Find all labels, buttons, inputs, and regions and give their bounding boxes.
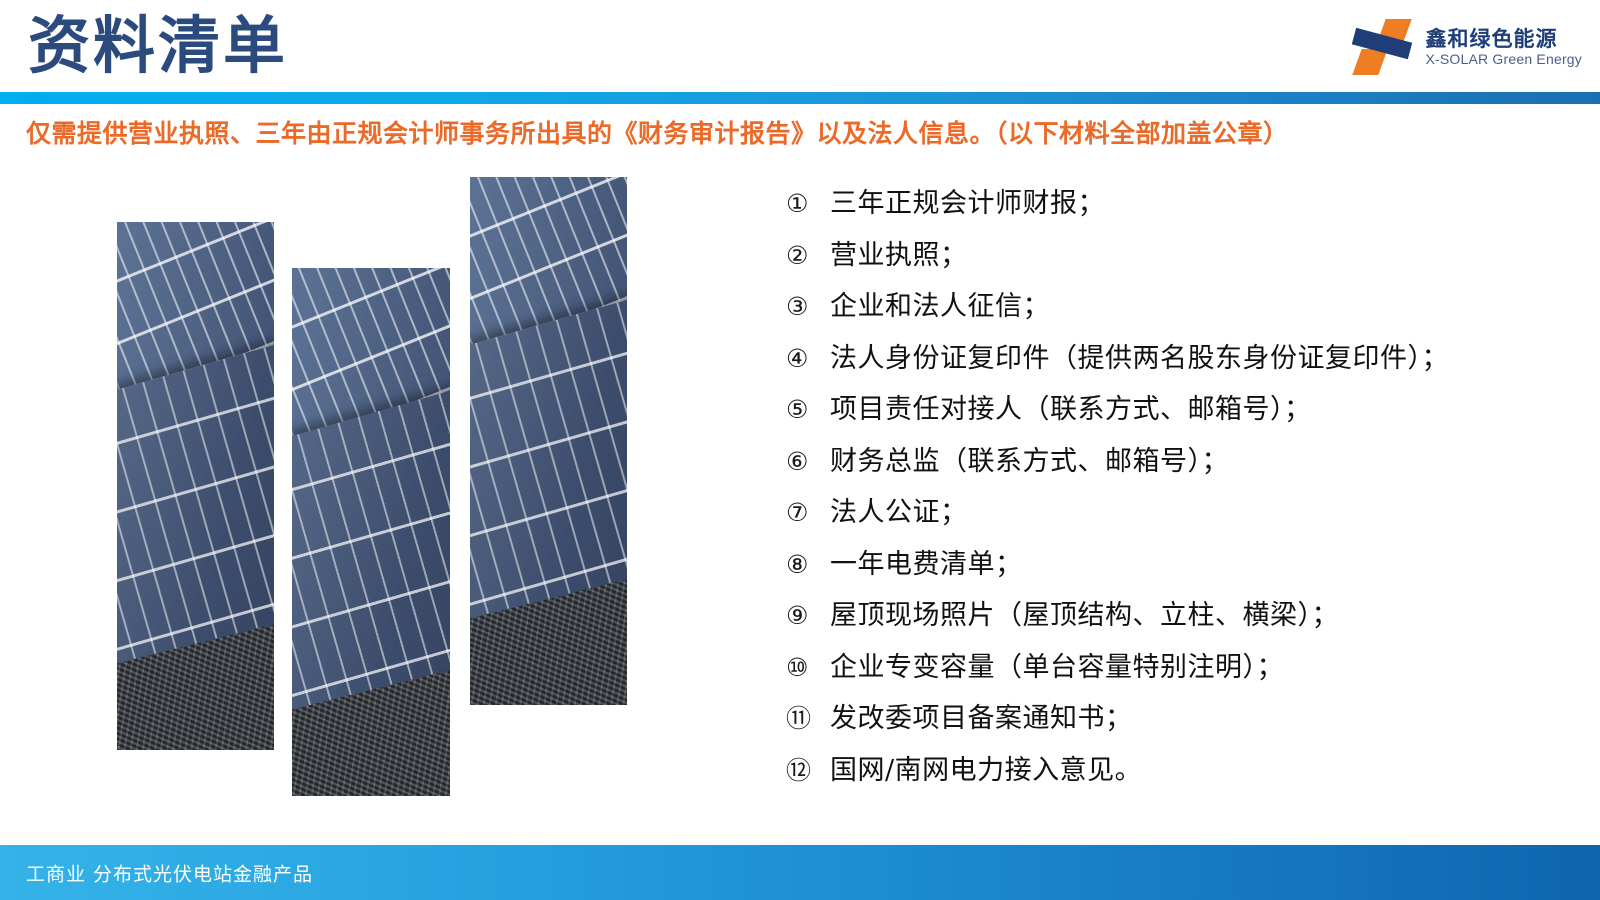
list-item: ⑧ 一年电费清单； (786, 542, 1576, 594)
subtitle-note: 仅需提供营业执照、三年由正规会计师事务所出具的《财务审计报告》以及法人信息。（以… (26, 114, 1289, 150)
list-item-number: ⑤ (786, 395, 830, 424)
logo-orange-bottom-shape (1353, 49, 1388, 75)
photo-3-panel-array-lower (470, 288, 627, 705)
list-item-number: ⑦ (786, 498, 830, 527)
list-item-label: 国网/南网电力接入意见。 (830, 748, 1142, 787)
logo-company-name-cn: 鑫和绿色能源 (1425, 27, 1582, 51)
header-divider-bar (0, 92, 1600, 104)
list-item: ① 三年正规会计师财报； (786, 181, 1576, 233)
list-item-label: 营业执照； (830, 233, 968, 272)
list-item-label: 财务总监（联系方式、邮箱号）； (830, 439, 1229, 478)
list-item-label: 企业专变容量（单台容量特别注明）； (830, 645, 1284, 684)
list-item-number: ① (786, 189, 830, 218)
list-item: ⑪ 发改委项目备案通知书； (786, 696, 1576, 748)
list-item: ⑥ 财务总监（联系方式、邮箱号）； (786, 439, 1576, 491)
photo-2-gravel-roof (292, 668, 450, 796)
photo-3-background (470, 177, 627, 705)
list-item-label: 屋顶现场照片（屋顶结构、立柱、横梁）； (830, 593, 1339, 632)
list-item-label: 法人身份证复印件（提供两名股东身份证复印件）； (830, 336, 1449, 375)
list-item: ⑨ 屋顶现场照片（屋顶结构、立柱、横梁）； (786, 593, 1576, 645)
list-item: ⑦ 法人公证； (786, 490, 1576, 542)
list-item-number: ④ (786, 344, 830, 373)
solar-panel-photo-2 (292, 268, 450, 796)
photo-2-panel-array (292, 268, 450, 796)
list-item-label: 项目责任对接人（联系方式、邮箱号）； (830, 387, 1312, 426)
slide-footer: 工商业 分布式光伏电站金融产品 (0, 845, 1600, 900)
photo-1-gravel-roof (117, 622, 274, 750)
list-item-label: 一年电费清单； (830, 542, 1023, 581)
list-item: ⑤ 项目责任对接人（联系方式、邮箱号）； (786, 387, 1576, 439)
slide-root: 资料清单 鑫和绿色能源 X-SOLAR Green Energy 仅需提供营业执… (0, 0, 1600, 900)
brand-logo: 鑫和绿色能源 X-SOLAR Green Energy (1351, 18, 1582, 76)
photo-2-panel-array-lower (292, 379, 450, 796)
list-item-number: ⑩ (786, 653, 830, 682)
list-item-number: ⑥ (786, 447, 830, 476)
list-item-number: ⑫ (786, 751, 830, 787)
list-item: ⑫ 国网/南网电力接入意见。 (786, 748, 1576, 800)
list-item: ③ 企业和法人征信； (786, 284, 1576, 336)
page-title: 资料清单 (28, 8, 288, 84)
photo-1-background (117, 222, 274, 750)
photo-3-gravel-roof (470, 577, 627, 705)
list-item-label: 三年正规会计师财报； (830, 181, 1105, 220)
list-item: ② 营业执照； (786, 233, 1576, 285)
logo-text-block: 鑫和绿色能源 X-SOLAR Green Energy (1425, 27, 1582, 67)
requirements-list: ① 三年正规会计师财报； ② 营业执照； ③ 企业和法人征信； ④ 法人身份证复… (786, 181, 1576, 799)
list-item-label: 发改委项目备案通知书； (830, 696, 1133, 735)
photo-2-background (292, 268, 450, 796)
list-item: ④ 法人身份证复印件（提供两名股东身份证复印件）； (786, 336, 1576, 388)
photo-1-panel-array-lower (117, 333, 274, 750)
solar-panel-photo-1 (117, 222, 274, 750)
photo-1-panel-array (117, 222, 274, 750)
list-item-number: ⑨ (786, 601, 830, 630)
list-item-number: ⑧ (786, 550, 830, 579)
list-item-number: ⑪ (786, 699, 830, 735)
photo-3-panel-array (470, 177, 627, 705)
photo-3-dark-horizon (470, 177, 627, 203)
solar-panel-photo-3 (470, 177, 627, 705)
list-item-number: ② (786, 241, 830, 270)
list-item-label: 法人公证； (830, 490, 968, 529)
logo-company-name-en: X-SOLAR Green Energy (1425, 51, 1582, 67)
footer-label: 工商业 分布式光伏电站金融产品 (26, 859, 313, 886)
list-item-number: ③ (786, 292, 830, 321)
list-item: ⑩ 企业专变容量（单台容量特别注明）； (786, 645, 1576, 697)
list-item-label: 企业和法人征信； (830, 284, 1050, 323)
x-solar-logo-mark-icon (1351, 19, 1413, 75)
slide-header: 资料清单 鑫和绿色能源 X-SOLAR Green Energy (0, 0, 1600, 92)
